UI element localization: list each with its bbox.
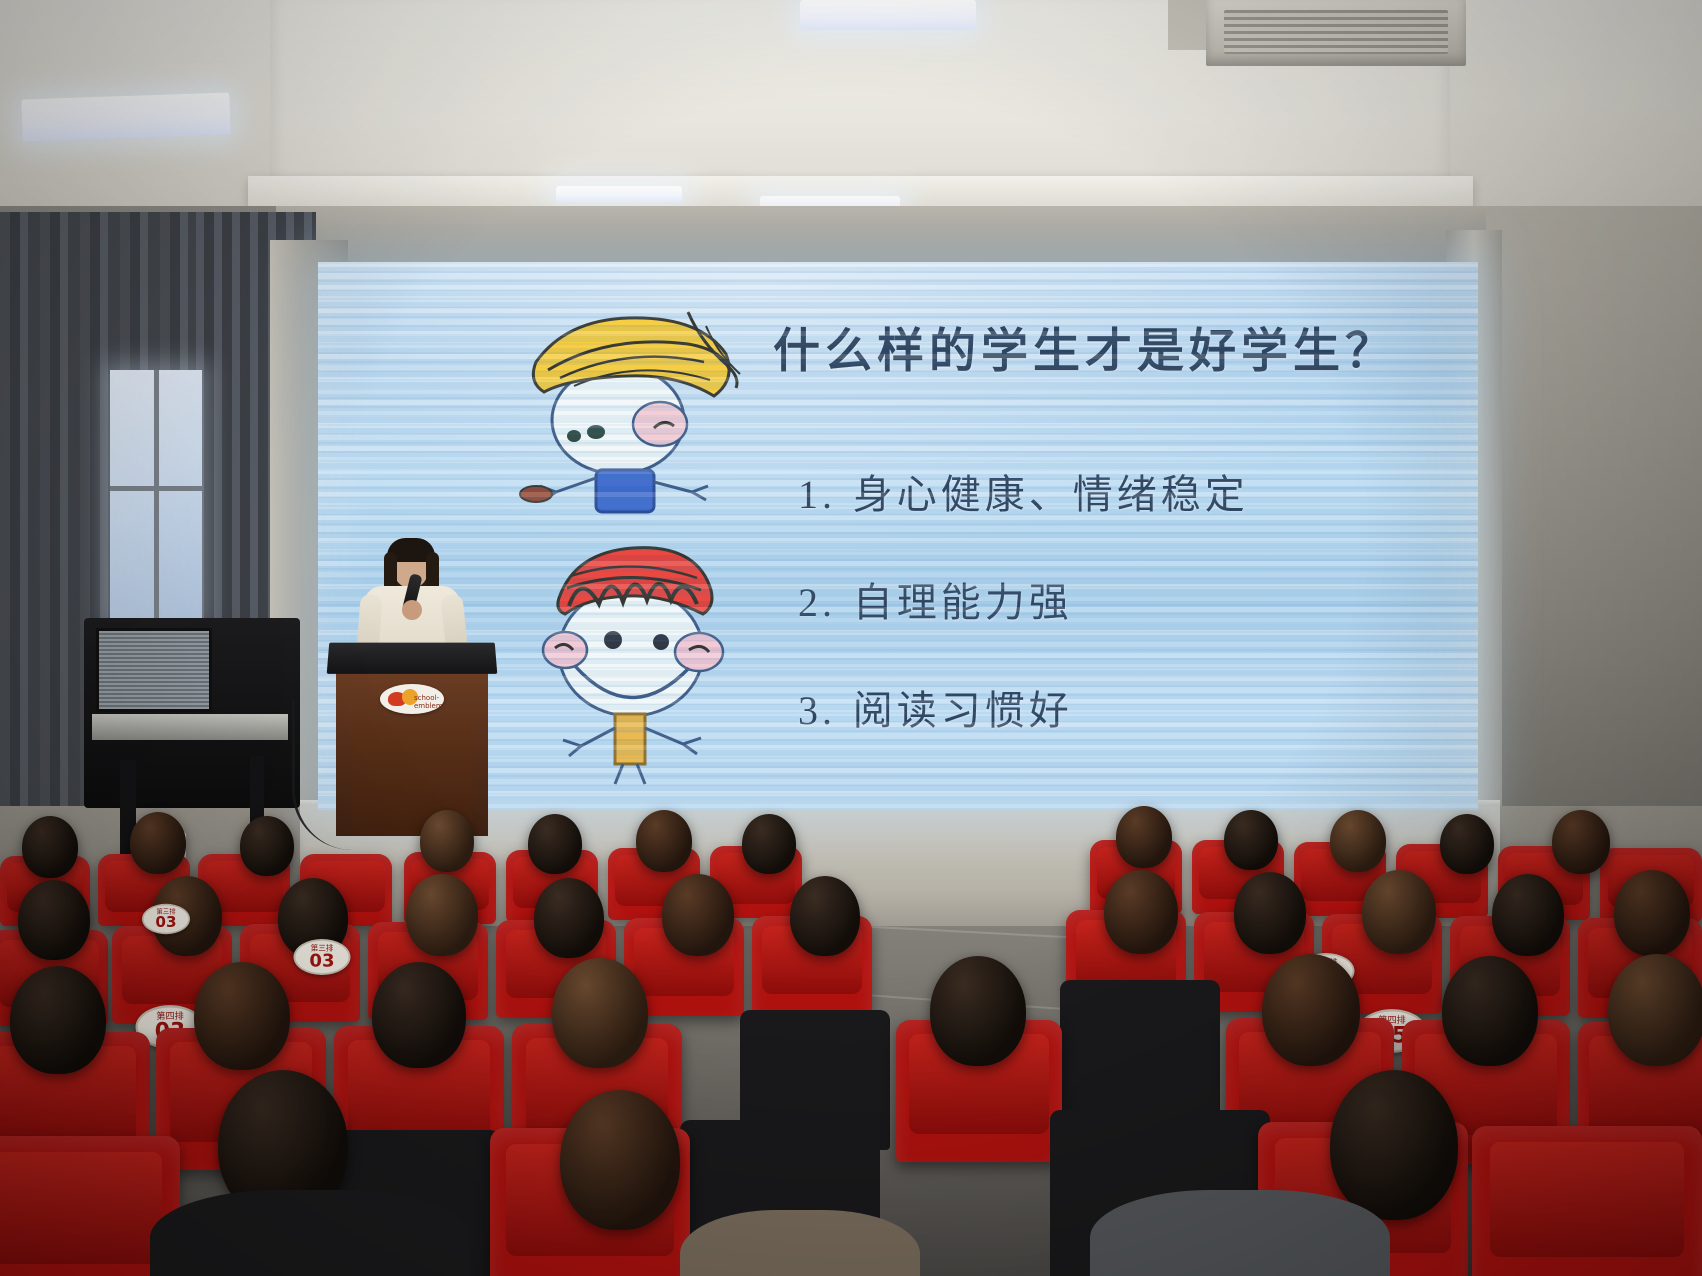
audience-head	[528, 814, 582, 874]
audience-head	[1362, 870, 1436, 954]
audience-shoulders	[1090, 1190, 1390, 1276]
audience-head	[1224, 810, 1278, 870]
audience-head	[1552, 810, 1610, 874]
audience-seating: 第三排 03 第三排 03 第四排 03 第四排 05 第四排 05	[0, 770, 1702, 1276]
audience-head	[742, 814, 796, 874]
audience-head	[930, 956, 1026, 1066]
audience-head	[1442, 956, 1538, 1066]
screen-moire	[318, 262, 1478, 810]
audience-head	[1262, 954, 1360, 1066]
seat-number-tag: 第三排 03	[294, 939, 351, 975]
ceiling	[0, 0, 1702, 232]
audience-head	[1330, 810, 1386, 872]
audience-head	[406, 874, 478, 956]
audience-head	[240, 816, 294, 876]
led-presentation-screen: 什么样的学生才是好学生？ 1. 身心健康、情绪稳定 2. 自理能力强 3. 阅读…	[318, 262, 1478, 810]
audience-head	[1608, 954, 1702, 1066]
audience-head	[552, 958, 648, 1068]
audience-head	[18, 880, 90, 960]
ceiling-ac-duct	[1168, 0, 1208, 50]
seat	[1472, 1126, 1702, 1276]
piano-keys	[92, 714, 288, 740]
audience-head	[420, 810, 474, 872]
audience-head	[534, 878, 604, 958]
audience-head	[1234, 872, 1306, 954]
window-mullion	[154, 370, 159, 620]
ac-vent-grille	[1224, 10, 1448, 54]
window	[110, 370, 202, 620]
podium-top-surface	[327, 643, 498, 674]
seat-number-tag: 第三排 03	[142, 904, 190, 934]
audience-head	[130, 812, 186, 874]
seat-number: 03	[155, 915, 176, 930]
audience-head	[1492, 874, 1564, 956]
ceiling-light-panel	[21, 92, 230, 141]
audience-head	[10, 966, 106, 1074]
audience-head	[1104, 870, 1178, 954]
audience-head	[790, 876, 860, 956]
audience-shoulders	[680, 1210, 920, 1276]
ceiling-light-panel	[556, 186, 682, 202]
audience-head	[1116, 806, 1172, 868]
audience-head	[636, 810, 692, 872]
ceiling-light-panel	[800, 0, 976, 30]
presenter-hand	[402, 600, 422, 620]
audience-head	[372, 962, 466, 1068]
audience-head	[1440, 814, 1494, 874]
audience-head	[662, 874, 734, 956]
audience-head	[560, 1090, 680, 1230]
audience-head	[194, 962, 290, 1070]
audience-shoulders	[150, 1190, 470, 1276]
auditorium-photo: 什么样的学生才是好学生？ 1. 身心健康、情绪稳定 2. 自理能力强 3. 阅读…	[0, 0, 1702, 1276]
audience-head	[22, 816, 78, 878]
ceiling-ac-unit	[1206, 0, 1466, 66]
logo-text: school-emblem	[414, 694, 444, 710]
audience-head	[1614, 870, 1690, 956]
seat-back-dark	[1060, 980, 1220, 1130]
monitor-screen	[96, 628, 212, 712]
seat-number: 03	[309, 952, 334, 970]
audience-head	[1330, 1070, 1458, 1220]
school-emblem-logo: school-emblem	[380, 684, 444, 714]
